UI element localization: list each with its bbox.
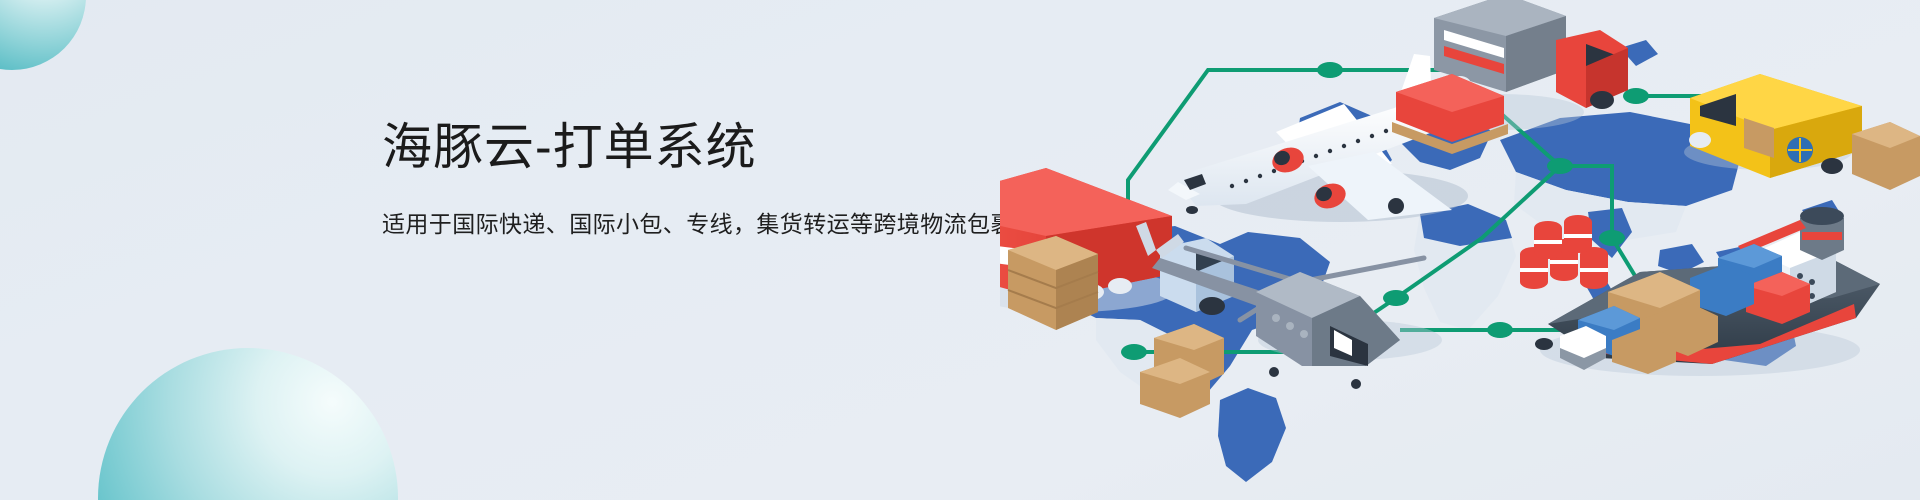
hero-text-block: 海豚云-打单系统 适用于国际快递、国际小包、专线，集货转运等跨境物流包裹处理 (382, 116, 1061, 239)
isometric-world-logistics-map-illustration (1000, 0, 1920, 500)
hero-banner: 海豚云-打单系统 适用于国际快递、国际小包、专线，集货转运等跨境物流包裹处理 (0, 0, 1920, 500)
page-subtitle: 适用于国际快递、国际小包、专线，集货转运等跨境物流包裹处理 (382, 205, 1061, 239)
teal-gradient-circle-bottom-left-icon (98, 348, 398, 500)
teal-gradient-circle-top-left-icon (0, 0, 86, 70)
cargo-boxes (1008, 236, 1098, 330)
page-title: 海豚云-打单系统 (382, 116, 1061, 179)
